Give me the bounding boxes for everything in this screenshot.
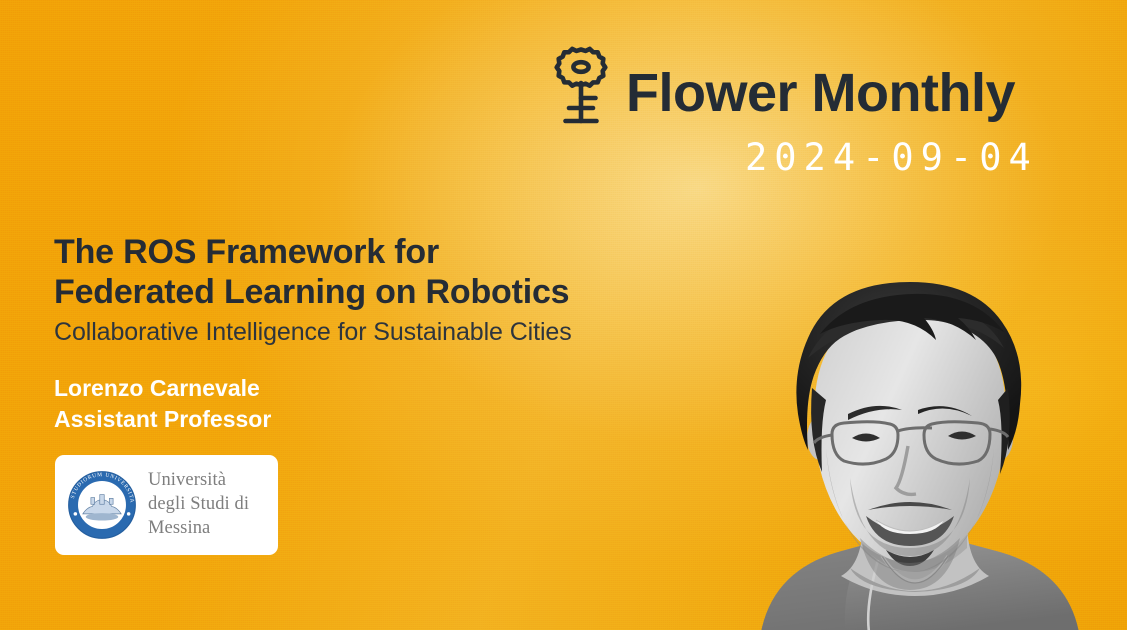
- episode-date: 2024-09-04: [745, 139, 1015, 176]
- affiliation-name-line-2: degli Studi di: [148, 494, 249, 514]
- affiliation-name-line-1: Università: [148, 470, 226, 490]
- talk-subtitle: Collaborative Intelligence for Sustainab…: [54, 317, 572, 347]
- brand-title: Flower Monthly: [626, 66, 1015, 120]
- university-seal-icon: STUDIORUM UNIVERSITAS MESSANAE A.D. 1548: [65, 468, 139, 542]
- talk-title-line-2: Federated Learning on Robotics: [54, 272, 572, 312]
- speaker-portrait: [700, 238, 1127, 630]
- flower-icon: [552, 45, 610, 133]
- slide-canvas: Flower Monthly 2024-09-04 The ROS Framew…: [0, 0, 1127, 630]
- talk-title-line-1: The ROS Framework for: [54, 232, 572, 272]
- affiliation-name: Università degli Studi di Messina: [148, 469, 249, 540]
- speaker-block: Lorenzo Carnevale Assistant Professor: [54, 373, 271, 434]
- affiliation-name-line-3: Messina: [148, 518, 210, 538]
- brand-header: Flower Monthly: [552, 45, 1015, 133]
- speaker-role: Assistant Professor: [54, 404, 271, 435]
- speaker-name: Lorenzo Carnevale: [54, 373, 271, 404]
- talk-block: The ROS Framework for Federated Learning…: [54, 232, 572, 347]
- affiliation-card: STUDIORUM UNIVERSITAS MESSANAE A.D. 1548…: [55, 455, 278, 555]
